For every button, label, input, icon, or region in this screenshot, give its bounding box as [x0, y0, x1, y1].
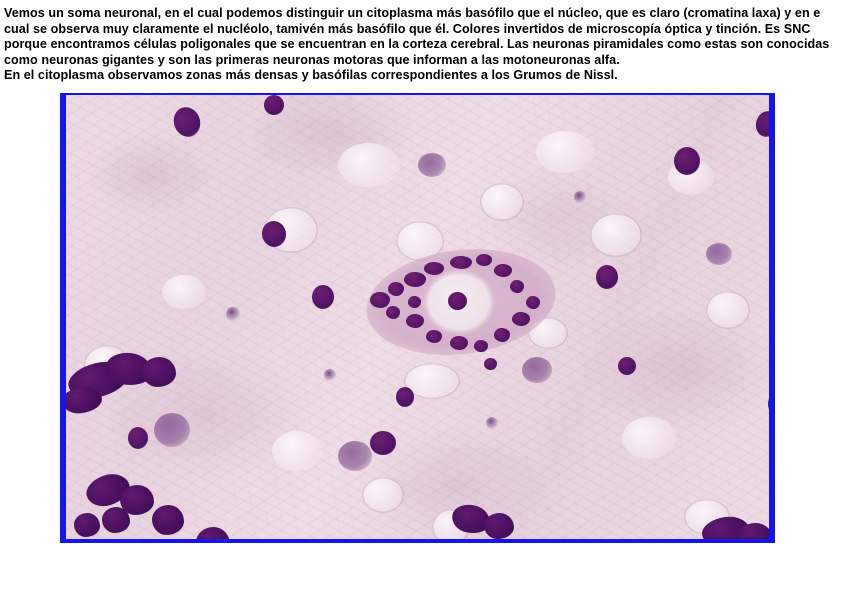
nissl-body	[494, 328, 510, 342]
micrograph-image	[66, 95, 769, 539]
glial-nucleus	[618, 357, 636, 375]
description-paragraph-1: Vemos un soma neuronal, en el cual podem…	[4, 6, 844, 68]
glial-nucleus	[596, 265, 618, 289]
glial-cell-cluster	[142, 357, 176, 387]
glial-nucleus	[226, 307, 240, 321]
glial-nucleus	[574, 191, 586, 203]
nissl-body	[424, 262, 444, 275]
nissl-body	[526, 296, 540, 309]
glial-nucleus	[522, 357, 552, 383]
nissl-body	[450, 336, 468, 350]
lacuna	[162, 275, 206, 309]
nissl-body	[512, 312, 530, 326]
nissl-body	[426, 330, 442, 343]
glial-nucleus	[128, 427, 148, 449]
nissl-body	[510, 280, 524, 293]
nissl-body	[404, 272, 426, 287]
nissl-body	[474, 340, 488, 352]
glial-nucleus	[418, 153, 446, 177]
micrograph-blue-border-frame	[60, 93, 775, 543]
glial-nucleus	[154, 413, 190, 447]
glial-cell-cluster	[738, 523, 769, 539]
glial-nucleus	[396, 387, 414, 407]
glial-nucleus	[370, 431, 396, 455]
description-text-block: Vemos un soma neuronal, en el cual podem…	[0, 0, 848, 84]
nissl-body	[370, 292, 390, 308]
glial-nucleus	[674, 147, 700, 175]
lacuna	[272, 431, 322, 471]
glial-nucleus	[264, 95, 284, 115]
nissl-body	[450, 256, 472, 269]
nissl-body	[476, 254, 492, 266]
glial-nucleus	[486, 417, 498, 429]
nissl-body	[408, 296, 421, 308]
glial-nucleus	[312, 285, 334, 309]
micrograph-figure	[0, 84, 848, 543]
glial-cell-cluster	[74, 513, 100, 537]
lacuna	[622, 417, 676, 459]
glial-cell-cluster	[102, 507, 130, 533]
nissl-body	[388, 282, 404, 296]
nissl-body	[406, 314, 424, 328]
lacuna	[362, 477, 404, 513]
nissl-body	[484, 358, 497, 370]
neuron-nucleolus	[448, 292, 467, 310]
nissl-body	[386, 306, 400, 319]
description-paragraph-2: En el citoplasma observamos zonas más de…	[4, 68, 844, 84]
lacuna	[480, 183, 524, 221]
nissl-body	[494, 264, 512, 277]
lacuna	[338, 143, 400, 187]
glial-nucleus	[338, 441, 372, 471]
lacuna	[536, 131, 594, 173]
pyramidal-neuron	[366, 250, 556, 354]
lacuna	[706, 291, 750, 329]
lacuna	[590, 213, 642, 257]
glial-cell-cluster	[484, 513, 514, 539]
glial-cell-cluster	[152, 505, 184, 535]
glial-nucleus	[706, 243, 732, 265]
glial-nucleus	[324, 369, 336, 381]
